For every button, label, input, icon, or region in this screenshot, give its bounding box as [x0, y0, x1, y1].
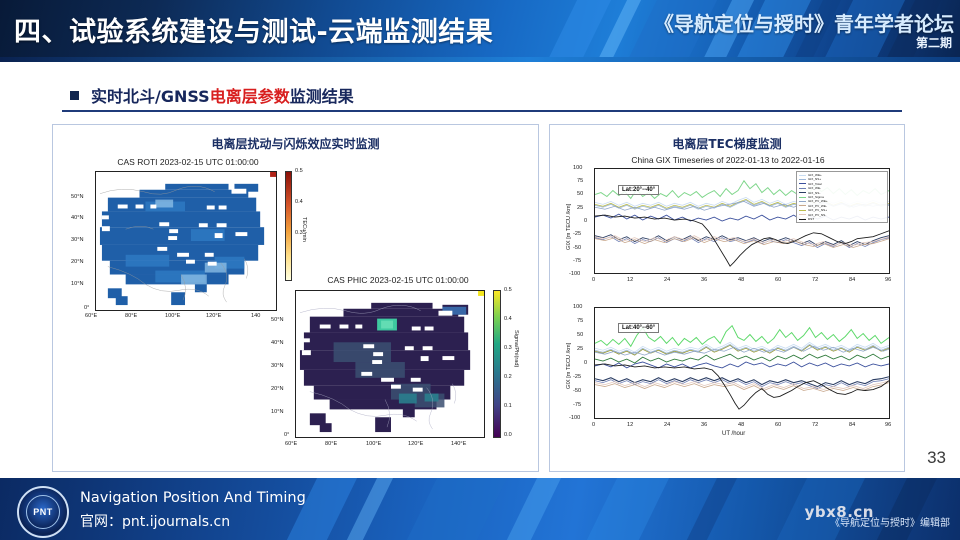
page-title: 四、试验系统建设与测试-云端监测结果	[14, 10, 493, 49]
phic-xtick: 120°E	[408, 441, 423, 447]
page-number: 33	[927, 448, 946, 468]
panel-right-title: 电离层TEC梯度监测	[550, 135, 904, 152]
legend-swatch-icon	[799, 205, 806, 206]
roti-colorbar	[285, 171, 292, 281]
legend-swatch-icon	[799, 188, 806, 189]
gix-bottom-xtick: 48	[738, 422, 744, 428]
panel-tec-gradient: 电离层TEC梯度监测 China GIX Timeseries of 2022-…	[549, 124, 905, 472]
legend-swatch-icon	[799, 214, 806, 215]
gix-top-xtick: 0	[592, 277, 595, 283]
gix-bottom-ytick: -75	[573, 402, 581, 408]
footer-streak	[388, 478, 521, 540]
gix-bottom-xtick: 24	[664, 422, 670, 428]
legend-item: DST	[799, 217, 885, 221]
gix-top-ytick: 75	[577, 178, 583, 184]
gix-bottom-xtick: 12	[627, 422, 633, 428]
footer-website: 官网：pnt.ijournals.cn	[80, 511, 230, 531]
phic-cbar-tick: 0.0	[504, 432, 512, 438]
phic-xtick: 140°E	[451, 441, 466, 447]
gix-top-ytick: -50	[573, 245, 581, 251]
gix-top-legend[interactable]: GIX_WE+ GIX_NS+ GIX_Total GIX_WE- GIX_NS…	[796, 171, 888, 223]
gix-top-xtick: 24	[664, 277, 670, 283]
gix-top-ylabel: GIX [m TECU /km]	[566, 204, 572, 250]
legend-swatch-icon	[799, 183, 806, 184]
gix-bottom-ytick: -100	[569, 415, 580, 421]
chart-gix-top: China GIX Timeseries of 2022-01-13 to 20…	[556, 155, 900, 295]
gix-bottom-ytick: 100	[573, 304, 582, 310]
phic-cbar-tick: 0.4	[504, 316, 512, 322]
panel-left-title: 电离层扰动与闪烁效应实时监测	[53, 135, 538, 152]
gix-bottom-annotation: Lat:40°--60°	[618, 323, 659, 333]
roti-ytick: 10°N	[71, 281, 84, 287]
watermark: ybx8.cn	[805, 503, 874, 521]
legend-swatch-icon	[799, 219, 806, 220]
phic-ytick: 40°N	[271, 340, 284, 346]
legend-swatch-icon	[799, 201, 806, 202]
phic-colorbar	[493, 290, 501, 438]
gix-top-xtick: 12	[627, 277, 633, 283]
gix-bottom-xlabel: UT /hour	[722, 431, 745, 437]
gix-bottom-xtick: 0	[592, 422, 595, 428]
square-bullet-icon	[70, 91, 79, 100]
gix-top-ytick: 25	[577, 205, 583, 211]
gix-top-xtick: 96	[885, 277, 891, 283]
roti-ytick: 20°N	[71, 259, 84, 265]
phic-map-canvas	[296, 291, 484, 437]
gix-bottom-xtick: 36	[701, 422, 707, 428]
gix-bottom-xtick: 60	[775, 422, 781, 428]
phic-colorbar-label: Sigma/Phi(rad)	[513, 330, 519, 367]
section-title-part2: 电离层参数	[210, 87, 290, 106]
legend-swatch-icon	[799, 192, 806, 193]
roti-cbar-tick: 0.5	[295, 168, 303, 174]
gix-bottom-ytick: 25	[577, 346, 583, 352]
gix-top-xtick: 72	[812, 277, 818, 283]
legend-swatch-icon	[799, 197, 806, 198]
gix-bottom-xtick: 96	[885, 422, 891, 428]
gix-top-xtick: 84	[849, 277, 855, 283]
roti-ytick: 40°N	[71, 215, 84, 221]
phic-ytick: 0°	[284, 432, 289, 438]
gix-bottom-ylabel: GIX [m TECU /km]	[566, 343, 572, 389]
gix-top-ytick: 0	[584, 218, 587, 224]
gix-top-ytick: -25	[573, 231, 581, 237]
chart-cas-roti-title: CAS ROTI 2023-02-15 UTC 01:00:00	[63, 157, 313, 167]
phic-xtick: 100°E	[366, 441, 381, 447]
roti-xtick: 120°E	[206, 313, 221, 319]
gix-bottom-xtick: 84	[849, 422, 855, 428]
section-title-part1: 实时北斗/GNSS	[91, 87, 210, 106]
gix-top-annotation: Lat:20°--40°	[618, 185, 659, 195]
gix-bottom-xtick: 72	[812, 422, 818, 428]
legend-swatch-icon	[799, 179, 806, 180]
gix-top-xtick: 60	[775, 277, 781, 283]
roti-xtick: 140	[251, 313, 260, 319]
slide-header: 四、试验系统建设与测试-云端监测结果 《导航定位与授时》青年学者论坛 第二期	[0, 0, 960, 62]
section-title-part3: 监测结果	[290, 87, 354, 106]
roti-xtick: 80°E	[125, 313, 137, 319]
chart-cas-phic-axes	[295, 290, 485, 438]
footer-english-title: Navigation Position And Timing	[80, 490, 306, 506]
pnt-logo: PNT	[17, 486, 69, 538]
forum-title: 《导航定位与授时》青年学者论坛	[654, 8, 954, 37]
header-underline	[0, 57, 960, 62]
phic-cbar-tick: 0.3	[504, 345, 512, 351]
legend-label: DST	[808, 217, 814, 221]
gix-top-xtick: 36	[701, 277, 707, 283]
legend-swatch-icon	[799, 175, 806, 176]
footer-streak	[668, 478, 751, 540]
section-heading: 实时北斗/GNSS电离层参数监测结果	[62, 80, 902, 112]
chart-cas-phic: CAS PHIC 2023-02-15 UTC 01:00:00	[263, 275, 533, 465]
gix-bottom-ytick: 0	[584, 360, 587, 366]
phic-cbar-tick: 0.1	[504, 403, 512, 409]
pnt-logo-text: PNT	[26, 495, 60, 529]
roti-colorbar-label: TECu/min	[301, 217, 307, 242]
roti-ytick: 0°	[84, 305, 89, 311]
chart-gix-bottom: 100 75 50 25 0 -25 -50 -75 -100 0 12 24 …	[556, 301, 900, 451]
gix-top-ytick: -75	[573, 258, 581, 264]
phic-ytick: 30°N	[271, 363, 284, 369]
gix-top-xtick: 48	[738, 277, 744, 283]
panel-ionosphere-disturbance: 电离层扰动与闪烁效应实时监测 CAS ROTI 2023-02-15 UTC 0…	[52, 124, 539, 472]
footer-streak	[568, 478, 683, 540]
chart-cas-roti-axes	[95, 171, 277, 311]
gix-top-ytick: 100	[573, 165, 582, 171]
gix-bottom-ytick: 50	[577, 332, 583, 338]
gix-bottom-ytick: -50	[573, 388, 581, 394]
roti-xtick: 60°E	[85, 313, 97, 319]
roti-ytick: 50°N	[71, 194, 84, 200]
gix-bottom-ytick: 75	[577, 318, 583, 324]
gix-top-ytick: 50	[577, 191, 583, 197]
phic-cbar-tick: 0.5	[504, 287, 512, 293]
chart-cas-phic-title: CAS PHIC 2023-02-15 UTC 01:00:00	[263, 275, 533, 285]
legend-swatch-icon	[799, 210, 806, 211]
phic-xtick: 80°E	[325, 441, 337, 447]
phic-cbar-tick: 0.2	[504, 374, 512, 380]
gix-top-ytick: -100	[569, 271, 580, 277]
phic-ytick: 10°N	[271, 409, 284, 415]
chart-gix-top-title: China GIX Timeseries of 2022-01-13 to 20…	[556, 155, 900, 165]
roti-cbar-tick: 0.4	[295, 199, 303, 205]
roti-ytick: 30°N	[71, 237, 84, 243]
roti-map-canvas	[96, 172, 276, 310]
phic-xtick: 60°E	[285, 441, 297, 447]
forum-subtitle: 第二期	[916, 34, 952, 51]
roti-xtick: 100°E	[165, 313, 180, 319]
phic-ytick: 50°N	[271, 317, 284, 323]
phic-ytick: 20°N	[271, 386, 284, 392]
gix-bottom-ytick: -25	[573, 374, 581, 380]
